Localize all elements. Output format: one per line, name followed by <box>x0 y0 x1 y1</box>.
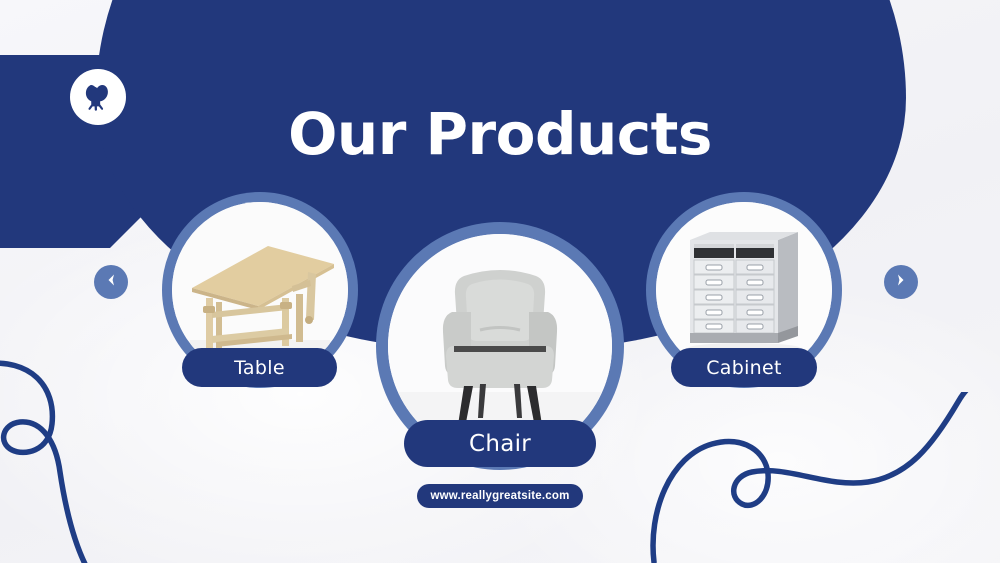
carousel-prev-button[interactable] <box>94 265 128 299</box>
product-label-chair[interactable]: Chair <box>404 420 596 467</box>
page-title: Our Products <box>0 104 1000 165</box>
website-url-badge[interactable]: www.reallygreatsite.com <box>417 484 583 508</box>
chevron-right-icon <box>893 272 909 293</box>
product-label-cabinet[interactable]: Cabinet <box>671 348 817 387</box>
product-label-table[interactable]: Table <box>182 348 337 387</box>
chevron-left-icon <box>103 272 119 293</box>
carousel-next-button[interactable] <box>884 265 918 299</box>
slide-canvas: Our Products Table <box>0 0 1000 563</box>
